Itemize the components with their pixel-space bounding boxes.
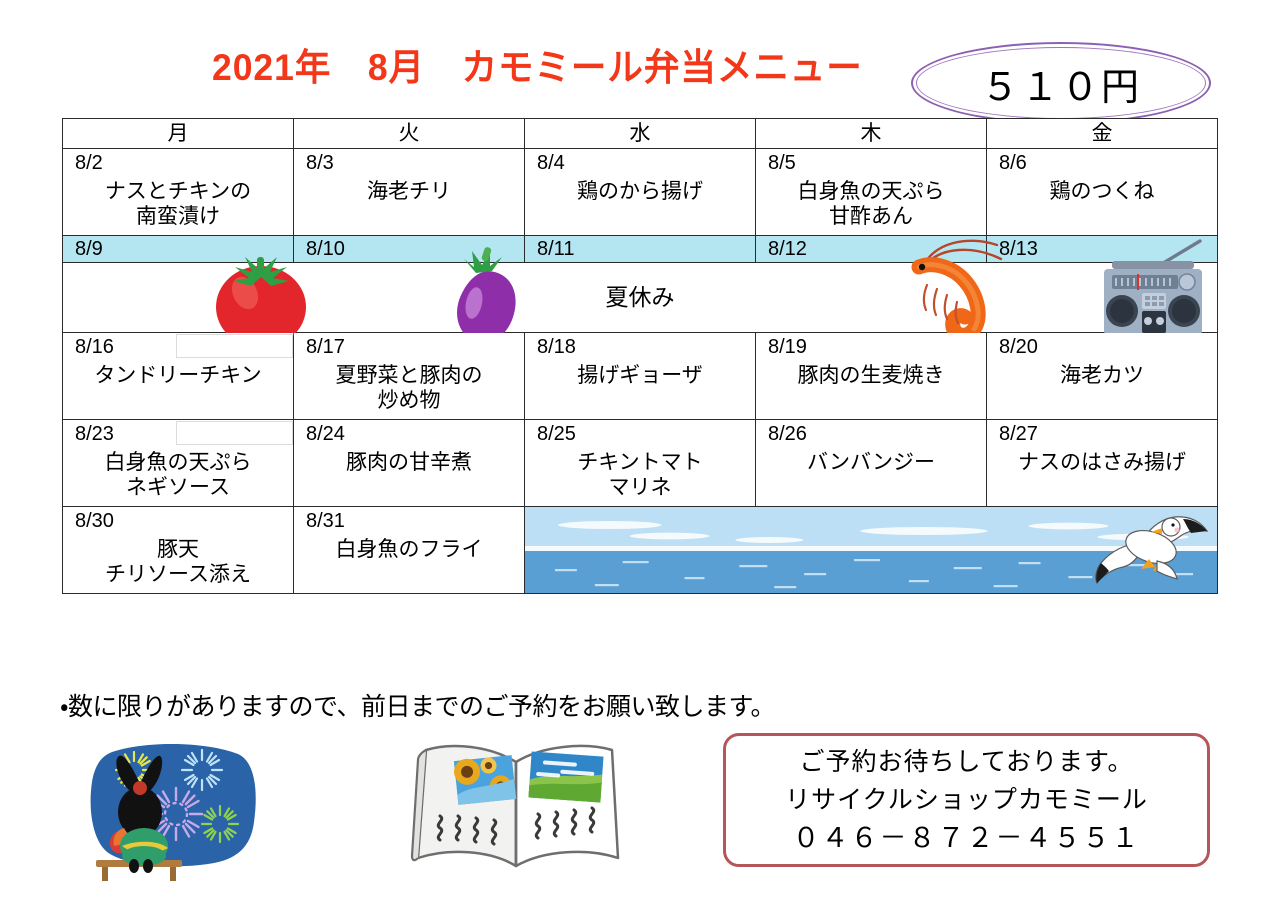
week-row-5: 8/30 豚天 チリソース添え 8/31 白身魚のフライ (63, 507, 1218, 594)
open-picture-diary-illustration (404, 730, 629, 880)
day-menu: 海老カツ (987, 363, 1217, 388)
day-menu: バンバンジー (756, 450, 986, 475)
day-date: 8/3 (306, 151, 334, 175)
day-menu: 鶏のつくね (987, 179, 1217, 204)
day-menu: 海老チリ (294, 179, 524, 204)
day-cell[interactable]: 8/17 夏野菜と豚肉の 炒め物 (294, 333, 525, 420)
day-menu: 揚げギョーザ (525, 363, 755, 388)
day-date: 8/4 (537, 151, 565, 175)
availability-note: ・数に限りがありますので、前日までのご予約をお願い致します。 (60, 687, 775, 723)
day-menu: 鶏のから揚げ (525, 179, 755, 204)
weekday-header-thu: 木 (756, 119, 987, 149)
phone-number: ０４６－８７２－４５５１ (793, 819, 1141, 857)
week-row-1: 8/2 ナスとチキンの 南蛮漬け 8/3 海老チリ 8/4 鶏のから揚げ 8/5… (63, 149, 1218, 236)
day-cell[interactable]: 8/19 豚肉の生麦焼き (756, 333, 987, 420)
reservation-box: ご予約お待ちしております。 リサイクルショップカモミール ０４６－８７２－４５５… (723, 733, 1210, 867)
day-date: 8/20 (999, 335, 1038, 359)
day-date: 8/17 (306, 335, 345, 359)
day-cell[interactable]: 8/11 (525, 236, 756, 263)
day-date: 8/26 (768, 422, 807, 446)
day-cell[interactable]: 8/30 豚天 チリソース添え (63, 507, 294, 594)
day-menu: 白身魚の天ぷら 甘酢あん (756, 179, 986, 229)
sea-photo-cell (525, 507, 1218, 594)
weekday-header-wed: 水 (525, 119, 756, 149)
weekday-header-mon: 月 (63, 119, 294, 149)
day-cell[interactable]: 8/3 海老チリ (294, 149, 525, 236)
day-menu: チキントマト マリネ (525, 450, 755, 500)
day-date: 8/25 (537, 422, 576, 446)
weekday-header-tue: 火 (294, 119, 525, 149)
day-menu: ナスのはさみ揚げ (987, 450, 1217, 475)
weekday-header-fri: 金 (987, 119, 1218, 149)
radio-illustration (1090, 239, 1216, 345)
day-menu: 夏野菜と豚肉の 炒め物 (294, 363, 524, 413)
day-date: 8/12 (768, 236, 807, 262)
price-label: ５１０円 (911, 42, 1211, 124)
menu-calendar: 月 火 水 木 金 8/2 ナスとチキンの 南蛮漬け 8/3 海老チリ 8/4 … (62, 118, 1218, 594)
header: 2021年 8月 カモミール弁当メニュー ５１０円 (0, 26, 1280, 104)
sea-with-seagull-illustration (525, 507, 1217, 593)
day-cell[interactable]: 8/25 チキントマト マリネ (525, 420, 756, 507)
reservation-line-1: ご予約お待ちしております。 (799, 743, 1133, 781)
day-cell[interactable]: 8/6 鶏のつくね (987, 149, 1218, 236)
day-cell[interactable]: 8/18 揚げギョーザ (525, 333, 756, 420)
day-date: 8/5 (768, 151, 796, 175)
day-date: 8/31 (306, 509, 345, 533)
day-date: 8/16 (75, 335, 114, 359)
day-date: 8/27 (999, 422, 1038, 446)
empty-note-box (176, 334, 293, 358)
day-cell[interactable]: 8/24 豚肉の甘辛煮 (294, 420, 525, 507)
day-date: 8/19 (768, 335, 807, 359)
day-cell[interactable]: 8/5 白身魚の天ぷら 甘酢あん (756, 149, 987, 236)
day-date: 8/11 (537, 236, 574, 262)
day-menu: タンドリーチキン (63, 363, 293, 388)
day-cell[interactable]: 8/31 白身魚のフライ (294, 507, 525, 594)
day-cell[interactable]: 8/23 白身魚の天ぷら ネギソース (63, 420, 294, 507)
week-row-3: 8/16 タンドリーチキン 8/17 夏野菜と豚肉の 炒め物 8/18 揚げギョ… (63, 333, 1218, 420)
day-date: 8/2 (75, 151, 103, 175)
day-date: 8/9 (75, 236, 103, 262)
summer-break-label: 夏休み (606, 284, 675, 310)
day-date: 8/30 (75, 509, 114, 533)
girl-watching-fireworks-illustration (78, 738, 268, 886)
day-date: 8/18 (537, 335, 576, 359)
seagull-icon (1079, 509, 1209, 591)
day-cell[interactable]: 8/26 バンバンジー (756, 420, 987, 507)
day-date: 8/6 (999, 151, 1027, 175)
day-menu: 豚天 チリソース添え (63, 537, 293, 587)
week-row-4: 8/23 白身魚の天ぷら ネギソース 8/24 豚肉の甘辛煮 8/25 チキント… (63, 420, 1218, 507)
shop-name: リサイクルショップカモミール (785, 781, 1148, 819)
day-date: 8/24 (306, 422, 345, 446)
day-menu: 白身魚の天ぷら ネギソース (63, 450, 293, 500)
week-row-2-holiday-band: 夏休み (63, 263, 1218, 333)
empty-note-box (176, 421, 293, 445)
day-cell[interactable]: 8/27 ナスのはさみ揚げ (987, 420, 1218, 507)
day-cell[interactable]: 8/4 鶏のから揚げ (525, 149, 756, 236)
day-cell[interactable]: 8/16 タンドリーチキン (63, 333, 294, 420)
day-menu: ナスとチキンの 南蛮漬け (63, 179, 293, 229)
summer-break-banner: 夏休み (63, 263, 1218, 333)
day-cell[interactable]: 8/20 海老カツ (987, 333, 1218, 420)
day-menu: 豚肉の甘辛煮 (294, 450, 524, 475)
day-menu: 豚肉の生麦焼き (756, 363, 986, 388)
day-menu: 白身魚のフライ (294, 537, 524, 562)
day-cell[interactable]: 8/2 ナスとチキンの 南蛮漬け (63, 149, 294, 236)
shrimp-illustration (881, 233, 1016, 345)
day-date: 8/23 (75, 422, 114, 446)
page-title: 2021年 8月 カモミール弁当メニュー (212, 37, 863, 91)
weekday-header-row: 月 火 水 木 金 (63, 119, 1218, 149)
